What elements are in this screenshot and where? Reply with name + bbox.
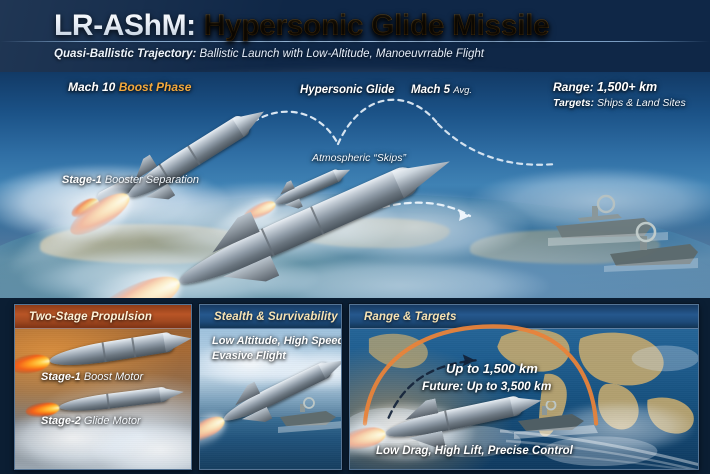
panel-3-footer: Low Drag, High Lift, Precise Control [376,445,573,457]
page-title: LR-AShM: Hypersonic Glide Missile [54,9,549,43]
label-range: Range: 1,500+ km [553,80,657,94]
label-mach-5-rest: Avg. [453,85,472,96]
title-secondary: Hypersonic Glide Missile [204,9,550,42]
panel-3-footer-text: Low Drag, High Lift, Precise Control [376,445,573,457]
warship-1 [548,196,668,246]
range-primary-text: Up to 1,500 km [446,361,538,376]
label-hypersonic-glide-bold: Hypersonic Glide [300,84,395,96]
caption-stage-2-bold: Stage-2 [41,415,81,427]
panel-2-body-line-2: Evasive Flight [212,350,286,362]
panel-1-header: Two-Stage Propulsion [15,305,191,329]
label-booster-separation-rest: Booster Separation [105,174,199,186]
panel-2-title: Stealth & Survivability [200,311,338,323]
range-future-value: Future: Up to 3,500 km [422,379,551,393]
label-boost-phase-accent: Boost Phase [119,80,192,94]
label-atmospheric-skips-text: Atmospheric “Skips” [312,152,406,164]
label-targets: Targets: Ships & Land Sites [553,97,686,109]
label-atmospheric-skips: Atmospheric “Skips” [312,152,406,164]
main-scene: Mach 10 Boost Phase Stage-1 Booster Sepa… [0,72,710,298]
panel-1-title: Two-Stage Propulsion [15,311,152,323]
label-boost-phase-bold: Mach 10 [68,80,115,94]
panel-strip: Two-Stage Propulsion Stage-1 Boost Motor [0,298,710,474]
panel-2-line-1-text: Low Altitude, High Speed, [212,335,342,347]
panel-2-warship [278,397,342,433]
arc-skip-2 [338,100,438,144]
caption-stage-1: Stage-1 Boost Motor [41,371,143,383]
infographic-poster: LR-AShM: Hypersonic Glide Missile Quasi-… [0,0,710,474]
label-booster-separation-bold: Stage-1 [62,174,102,186]
caption-stage-2-rest: Glide Motor [84,415,141,427]
subtitle-label: Quasi-Ballistic Trajectory: [54,48,196,60]
target-ships-group [548,192,698,272]
caption-stage-1-rest: Boost Motor [84,371,143,383]
label-targets-key: Targets: [553,97,594,109]
subtitle-text: Ballistic Launch with Low-Altitude, Mano… [200,48,484,60]
arc-skip-3 [438,124,556,165]
panel-stealth-survivability[interactable]: Stealth & Survivability Low Altitude, Hi… [199,304,342,470]
panel-two-stage-propulsion[interactable]: Two-Stage Propulsion Stage-1 Boost Motor [14,304,192,470]
label-booster-separation: Stage-1 Booster Separation [62,174,199,186]
label-range-key: Range: [553,80,594,94]
label-hypersonic-glide: Hypersonic Glide [300,84,395,96]
page-subtitle: Quasi-Ballistic Trajectory: Ballistic La… [54,48,484,60]
range-future-text: Future: Up to 3,500 km [422,379,551,393]
range-primary-value: Up to 1,500 km [446,361,538,376]
label-targets-value: Ships & Land Sites [597,97,686,109]
label-mach-5-bold: Mach 5 [411,84,450,96]
label-mach-5: Mach 5 Avg. [411,84,472,96]
label-boost-phase: Mach 10 Boost Phase [68,80,191,94]
title-primary: LR-AShM: [54,9,196,42]
panel-2-line-2-text: Evasive Flight [212,350,286,362]
panel-2-body-line-1: Low Altitude, High Speed, [212,335,342,347]
panel-range-targets[interactable]: Range & Targets Up to 1,500 km Future: U… [349,304,699,470]
panel-2-header: Stealth & Survivability [200,305,341,329]
caption-stage-1-bold: Stage-1 [41,371,81,383]
caption-stage-2: Stage-2 Glide Motor [41,415,141,427]
label-range-value: 1,500+ km [597,80,657,94]
